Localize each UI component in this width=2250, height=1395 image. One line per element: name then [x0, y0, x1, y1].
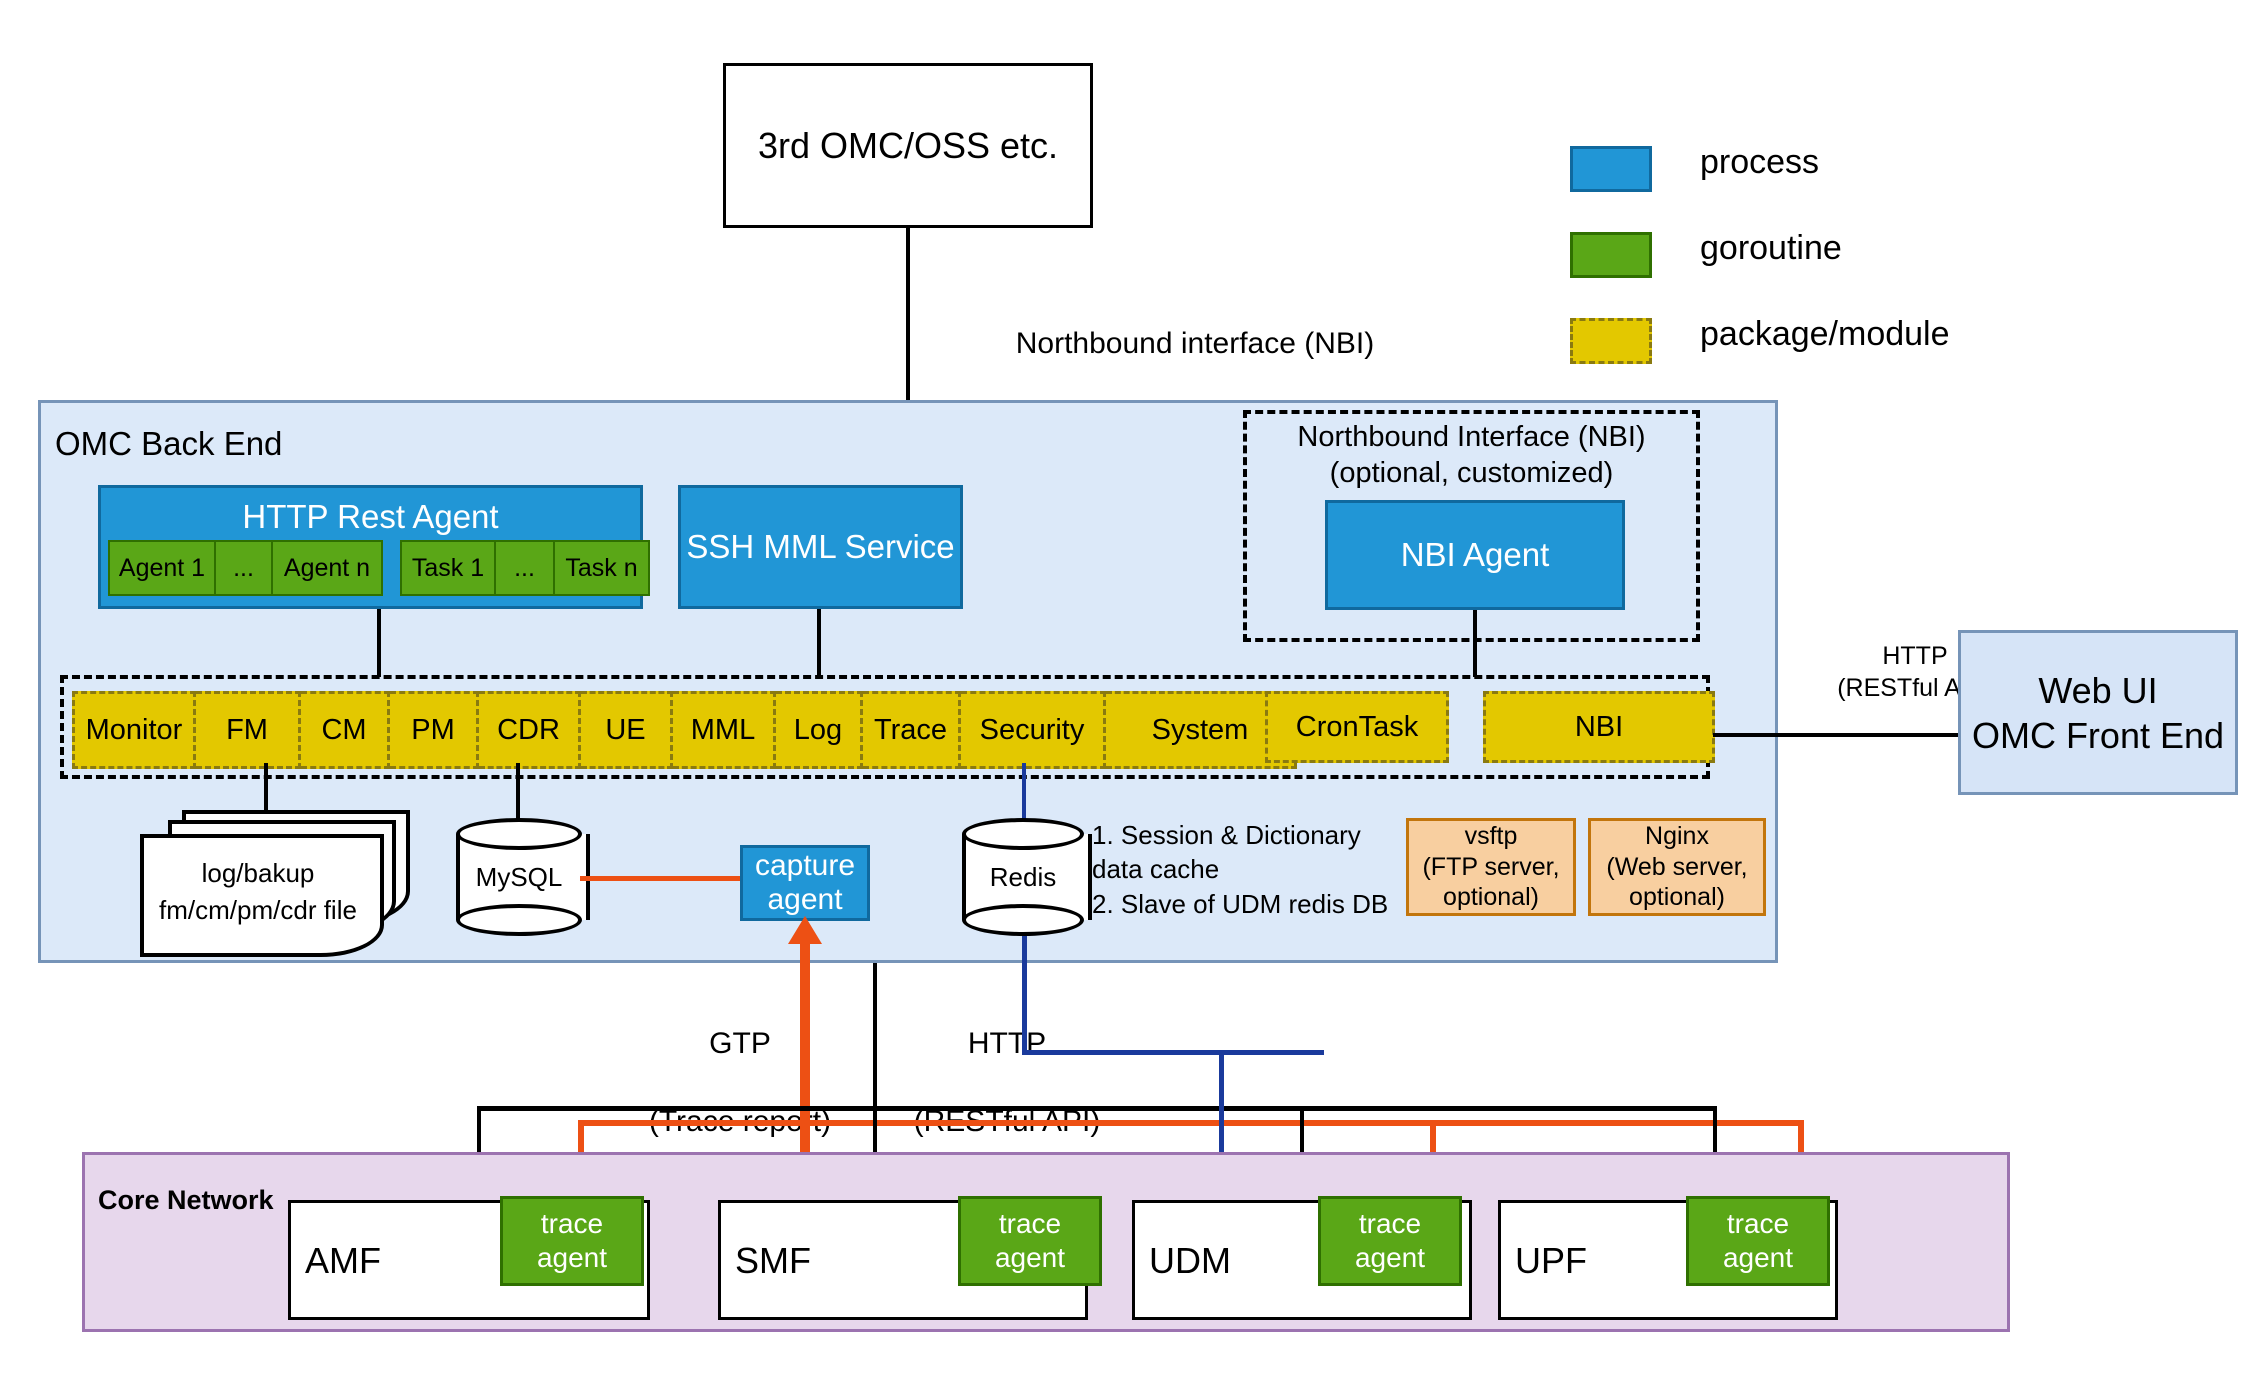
- trace-agent-udm-line1: trace: [1359, 1207, 1421, 1241]
- module-mml[interactable]: MML: [673, 691, 776, 769]
- module-nbi[interactable]: NBI: [1483, 691, 1715, 763]
- nginx-server-box: Nginx (Web server, optional): [1588, 818, 1766, 916]
- core-node-upf-label: UPF: [1515, 1240, 1587, 1282]
- log-backup-file-labels: log/bakup fm/cm/pm/cdr file: [140, 834, 376, 949]
- http-rest-agent-title: HTTP Rest Agent: [101, 494, 640, 540]
- http-link-line1: HTTP: [862, 1024, 1152, 1063]
- capture-agent-line2: agent: [767, 883, 842, 917]
- connector-sshmml-to-modules: [817, 609, 821, 677]
- orange-bus-horizontal: [578, 1120, 1804, 1126]
- legend-swatch-process: [1570, 146, 1652, 192]
- capture-agent-box: capture agent: [740, 845, 870, 921]
- core-network-title: Core Network: [98, 1185, 274, 1216]
- omc-front-end-line1: Web UI: [2038, 668, 2157, 713]
- trace-agent-udm: trace agent: [1318, 1196, 1462, 1286]
- redis-note-line1: 1. Session & Dictionary: [1092, 818, 1422, 852]
- legend-swatch-module: [1570, 318, 1652, 364]
- trace-agent-upf-line2: agent: [1723, 1241, 1793, 1275]
- vsftp-desc-line2: optional): [1443, 882, 1539, 913]
- goroutine-agent-1: Agent 1: [108, 540, 216, 596]
- mysql-label: MySQL: [456, 818, 582, 936]
- trace-agent-upf: trace agent: [1686, 1196, 1830, 1286]
- black-bus-horizontal: [477, 1106, 1717, 1111]
- omc-front-end-box: Web UI OMC Front End: [1958, 630, 2238, 795]
- vsftp-server-box: vsftp (FTP server, optional): [1406, 818, 1576, 916]
- goroutine-agent-n: Agent n: [273, 540, 383, 596]
- blue-bus-horizontal: [1022, 1050, 1324, 1055]
- capture-agent-arrowhead-icon: [788, 916, 822, 944]
- nbi-agent-box: NBI Agent: [1325, 500, 1625, 610]
- nbi-group-title-line2: (optional, customized): [1243, 456, 1700, 492]
- nbi-group-title-line1: Northbound Interface (NBI): [1243, 420, 1700, 456]
- goroutine-task-n: Task n: [555, 540, 650, 596]
- module-fm[interactable]: FM: [196, 691, 301, 769]
- connector-nbiagent-to-modules: [1473, 610, 1477, 677]
- capture-agent-line1: capture: [755, 849, 855, 883]
- mysql-database-cylinder: MySQL: [456, 818, 582, 936]
- log-backup-line1: log/bakup: [202, 855, 315, 891]
- trace-agent-amf-line2: agent: [537, 1241, 607, 1275]
- trace-agent-smf-line2: agent: [995, 1241, 1065, 1275]
- connector-trace-to-redis: [1022, 763, 1026, 821]
- omc-front-end-line2: OMC Front End: [1972, 713, 2224, 758]
- trace-agent-smf-line1: trace: [999, 1207, 1061, 1241]
- module-cm[interactable]: CM: [301, 691, 390, 769]
- core-node-amf-label: AMF: [305, 1240, 381, 1282]
- module-pm[interactable]: PM: [390, 691, 479, 769]
- redis-database-cylinder: Redis: [962, 818, 1084, 936]
- module-monitor[interactable]: Monitor: [72, 691, 196, 769]
- module-log[interactable]: Log: [776, 691, 863, 769]
- legend-label-goroutine: goroutine: [1700, 229, 1842, 268]
- nbi-group-title: Northbound Interface (NBI) (optional, cu…: [1243, 420, 1700, 492]
- log-backup-file-stack: log/bakup fm/cm/pm/cdr file: [140, 810, 390, 945]
- module-crontask[interactable]: CronTask: [1265, 691, 1449, 763]
- ssh-mml-service-box: SSH MML Service: [678, 485, 963, 609]
- black-trunk-vertical: [873, 963, 877, 1111]
- core-node-smf-label: SMF: [735, 1240, 811, 1282]
- redis-label: Redis: [962, 818, 1084, 936]
- connector-restagent-to-modules: [377, 609, 381, 677]
- legend-label-module: package/module: [1700, 315, 1950, 354]
- trace-agent-upf-line1: trace: [1727, 1207, 1789, 1241]
- module-security[interactable]: Security: [961, 691, 1106, 769]
- connector-modules-to-frontend: [1713, 733, 1961, 737]
- trace-agent-smf: trace agent: [958, 1196, 1102, 1286]
- redis-notes: 1. Session & Dictionary data cache 2. Sl…: [1092, 818, 1422, 921]
- modules-row: Monitor FM CM PM CDR UE MML Log Trace Se…: [72, 691, 1297, 769]
- module-ue[interactable]: UE: [581, 691, 673, 769]
- redis-note-line3: 2. Slave of UDM redis DB: [1092, 887, 1422, 921]
- legend-label-process: process: [1700, 143, 1819, 182]
- goroutine-agent-ellipsis: ...: [216, 540, 273, 596]
- nginx-name: Nginx: [1645, 821, 1709, 852]
- trace-agent-amf-line1: trace: [541, 1207, 603, 1241]
- nginx-desc-line1: (Web server,: [1606, 852, 1747, 883]
- external-omc-oss-label: 3rd OMC/OSS etc.: [758, 125, 1058, 167]
- connector-oss-to-backend: [906, 228, 910, 404]
- http-link-label: HTTP (RESTful API): [862, 985, 1152, 1180]
- blue-redis-drop: [1022, 936, 1027, 1054]
- goroutine-task-ellipsis: ...: [496, 540, 555, 596]
- http-rest-agent-agents-group: Agent 1 ... Agent n: [108, 540, 383, 596]
- module-trace[interactable]: Trace: [863, 691, 961, 769]
- orange-trunk-vertical: [800, 944, 810, 1184]
- core-node-udm-label: UDM: [1149, 1240, 1231, 1282]
- trace-agent-udm-line2: agent: [1355, 1241, 1425, 1275]
- gtp-link-label: GTP (Trace report): [585, 985, 895, 1180]
- module-cdr[interactable]: CDR: [479, 691, 581, 769]
- legend-swatch-goroutine: [1570, 232, 1652, 278]
- connector-cdr-to-mysql: [516, 763, 520, 821]
- vsftp-desc-line1: (FTP server,: [1422, 852, 1559, 883]
- redis-note-line2: data cache: [1092, 852, 1422, 886]
- log-backup-line2: fm/cm/pm/cdr file: [159, 892, 357, 928]
- goroutine-task-1: Task 1: [400, 540, 496, 596]
- http-rest-agent-tasks-group: Task 1 ... Task n: [400, 540, 650, 596]
- gtp-link-line1: GTP: [585, 1024, 895, 1063]
- omc-back-end-title: OMC Back End: [55, 425, 282, 463]
- external-omc-oss-box: 3rd OMC/OSS etc.: [723, 63, 1093, 228]
- nginx-desc-line2: optional): [1629, 882, 1725, 913]
- connector-mysql-to-capture-agent: [580, 876, 742, 881]
- diagram-canvas: 3rd OMC/OSS etc. Northbound interface (N…: [0, 0, 2250, 1395]
- nbi-link-line1: Northbound interface (NBI): [925, 324, 1465, 363]
- vsftp-name: vsftp: [1465, 821, 1518, 852]
- trace-agent-amf: trace agent: [500, 1196, 644, 1286]
